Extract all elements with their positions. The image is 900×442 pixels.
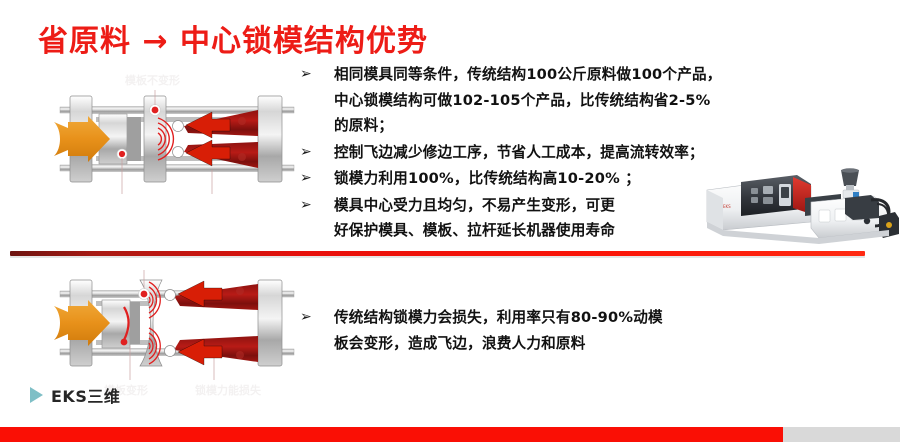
pivot-lower-2 (238, 153, 246, 161)
pivot-upper-2 (238, 117, 246, 125)
platen-right-fixed-2 (258, 280, 282, 366)
nozzle-detail (886, 222, 892, 228)
bullet-item: ➢ 相同模具同等条件，传统结构100公斤原料做100个产品， 中心锁模结构可做1… (297, 62, 767, 139)
bullet-text: 相同模具同等条件，传统结构100公斤原料做100个产品， 中心锁模结构可做102… (334, 62, 722, 139)
footer-logo-text: EKS三维 (51, 383, 120, 407)
deformation-dot (121, 339, 128, 346)
bullet-arrow-icon: ➢ (297, 193, 334, 218)
diagram-traditional-clamp (52, 262, 300, 384)
injection-arrow-2 (54, 300, 110, 346)
play-triangle-icon (30, 387, 43, 403)
bullet-list-top: ➢ 相同模具同等条件，传统结构100公斤原料做100个产品， 中心锁模结构可做1… (297, 62, 767, 245)
center-dot-bottom (119, 151, 125, 157)
page-title: 省原料 → 中心锁模结构优势 (38, 16, 428, 60)
pivot-lower-2-2 (236, 351, 244, 359)
bottom-bar-red (0, 427, 783, 442)
pivot-joint-upper (173, 121, 184, 132)
center-dot-top (152, 107, 159, 114)
bullet-arrow-icon: ➢ (297, 62, 334, 87)
hmi-screen (781, 187, 789, 198)
bullet-text: 传统结构锁模力会损失，利用率只有80-90%动模 板会变形，造成飞边，浪费人力和… (334, 305, 663, 356)
bullet-text: 模具中心受力且均匀，不易产生变形，可更 好保护模具、模板、拉杆延长机器使用寿命 (334, 193, 615, 244)
blue-valve (853, 192, 859, 197)
mold-block (127, 117, 141, 161)
access-door-2 (835, 209, 846, 221)
bullet-item: ➢ 传统结构锁模力会损失，利用率只有80-90%动模 板会变形，造成飞边，浪费人… (297, 305, 777, 356)
pivot-upper-2-2 (236, 287, 244, 295)
pivot-joint-upper-2 (165, 290, 176, 301)
bullet-list-bottom: ➢ 传统结构锁模力会损失，利用率只有80-90%动模 板会变形，造成飞边，浪费人… (297, 305, 777, 357)
footer-logo: EKS三维 (30, 383, 120, 407)
bullet-text: 锁模力利用100%，比传统结构高10-20% ； (334, 166, 640, 192)
section-divider-shadow (10, 256, 865, 258)
bullet-item: ➢ 控制飞边减少修边工序，节省人工成本，提高流转效率； (297, 140, 767, 166)
bullet-arrow-icon: ➢ (297, 140, 334, 165)
bullet-item: ➢ 锁模力利用100%，比传统结构高10-20% ； (297, 166, 767, 192)
bullet-text: 控制飞边减少修边工序，节省人工成本，提高流转效率； (334, 140, 704, 166)
bullet-arrow-icon: ➢ (297, 166, 334, 191)
bullet-item: ➢ 模具中心受力且均匀，不易产生变形，可更 好保护模具、模板、拉杆延长机器使用寿… (297, 193, 767, 244)
slide-root: 省原料 → 中心锁模结构优势 模板不变形 模板变形 锁模力能损失 (0, 0, 900, 442)
pivot-joint-lower-2 (165, 346, 176, 357)
platen-right-fixed (258, 96, 282, 182)
pivot-joint-lower (173, 147, 184, 158)
hopper-lid (841, 168, 859, 172)
mold-block-2 (130, 302, 140, 344)
watermark-bottom-right: 锁模力能损失 (195, 382, 261, 398)
diagram-center-clamp (52, 78, 300, 200)
bullet-arrow-icon: ➢ (297, 305, 334, 330)
access-door-1 (819, 210, 830, 222)
stress-dot-top-2 (141, 291, 148, 298)
